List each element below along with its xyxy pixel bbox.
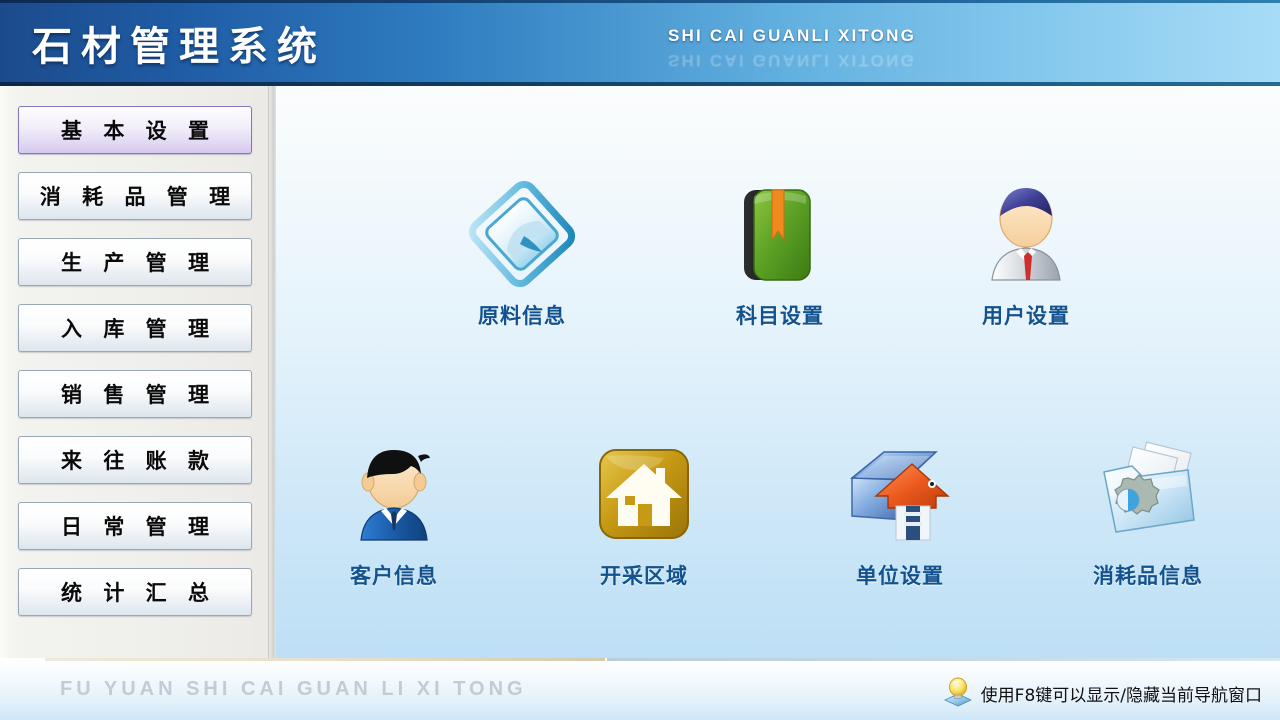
customer-icon [334,434,454,554]
sidebar-item-label: 日 常 管 理 [54,511,216,541]
module-icon-1[interactable]: 科目设置 [680,174,880,330]
status-divider-left [45,658,605,661]
lightbulb-icon [941,674,975,713]
page-title-pinyin-reflection: SHI CAI GUANLI XITONG [668,50,916,70]
sidebar-item-2[interactable]: 生 产 管 理 [18,238,252,286]
status-tip-text: 使用F8键可以显示/隐藏当前导航窗口 [981,681,1262,706]
house-square-icon [584,434,704,554]
sidebar-item-1[interactable]: 消 耗 品 管 理 [18,172,252,220]
folder-gear-icon [1088,434,1208,554]
module-icon-label: 消耗品信息 [1048,560,1248,590]
module-icon-label: 开采区域 [544,560,744,590]
module-icon-2[interactable]: 用户设置 [926,174,1126,330]
sidebar-item-label: 基 本 设 置 [54,115,216,145]
diamond-book-icon [462,174,582,294]
green-book-icon [720,174,840,294]
module-icon-label: 客户信息 [294,560,494,590]
sidebar-item-label: 销 售 管 理 [54,379,216,409]
sidebar-item-label: 来 往 账 款 [54,445,216,475]
status-tip: 使用F8键可以显示/隐藏当前导航窗口 [941,674,1262,713]
sidebar-item-7[interactable]: 统 计 汇 总 [18,568,252,616]
page-title: 石材管理系统 [32,14,326,72]
page-title-pinyin: SHI CAI GUANLI XITONG [668,26,916,46]
sidebar-item-6[interactable]: 日 常 管 理 [18,502,252,550]
module-icon-label: 原料信息 [422,300,622,330]
sidebar-item-4[interactable]: 销 售 管 理 [18,370,252,418]
sidebar-item-label: 消 耗 品 管 理 [33,181,237,211]
module-icon-3[interactable]: 客户信息 [294,434,494,590]
navigation-sidebar: 基 本 设 置消 耗 品 管 理生 产 管 理入 库 管 理销 售 管 理来 往… [0,86,268,658]
app-header: 石材管理系统 SHI CAI GUANLI XITONG SHI CAI GUA… [0,0,1280,86]
module-icon-0[interactable]: 原料信息 [422,174,622,330]
navigation-list: 基 本 设 置消 耗 品 管 理生 产 管 理入 库 管 理销 售 管 理来 往… [18,86,258,658]
module-icon-grid: 原料信息 科目设置 [276,86,1280,658]
sidebar-item-5[interactable]: 来 往 账 款 [18,436,252,484]
status-divider-right [607,658,1280,661]
module-icon-label: 单位设置 [800,560,1000,590]
module-icon-5[interactable]: 单位设置 [800,434,1000,590]
application-window: 石材管理系统 SHI CAI GUANLI XITONG SHI CAI GUA… [0,0,1280,720]
sidebar-item-label: 统 计 汇 总 [54,577,216,607]
sidebar-item-label: 生 产 管 理 [54,247,216,277]
sidebar-item-3[interactable]: 入 库 管 理 [18,304,252,352]
module-icon-6[interactable]: 消耗品信息 [1048,434,1248,590]
status-brand-text: FU YUAN SHI CAI GUAN LI XI TONG [60,678,527,701]
status-bar: FU YUAN SHI CAI GUAN LI XI TONG [0,658,1280,720]
module-icon-4[interactable]: 开采区域 [544,434,744,590]
sidebar-item-0[interactable]: 基 本 设 置 [18,106,252,154]
folder-house-icon [840,434,960,554]
main-content-panel: 原料信息 科目设置 [276,86,1280,658]
module-icon-label: 用户设置 [926,300,1126,330]
sidebar-item-label: 入 库 管 理 [54,313,216,343]
module-icon-label: 科目设置 [680,300,880,330]
user-settings-icon [966,174,1086,294]
